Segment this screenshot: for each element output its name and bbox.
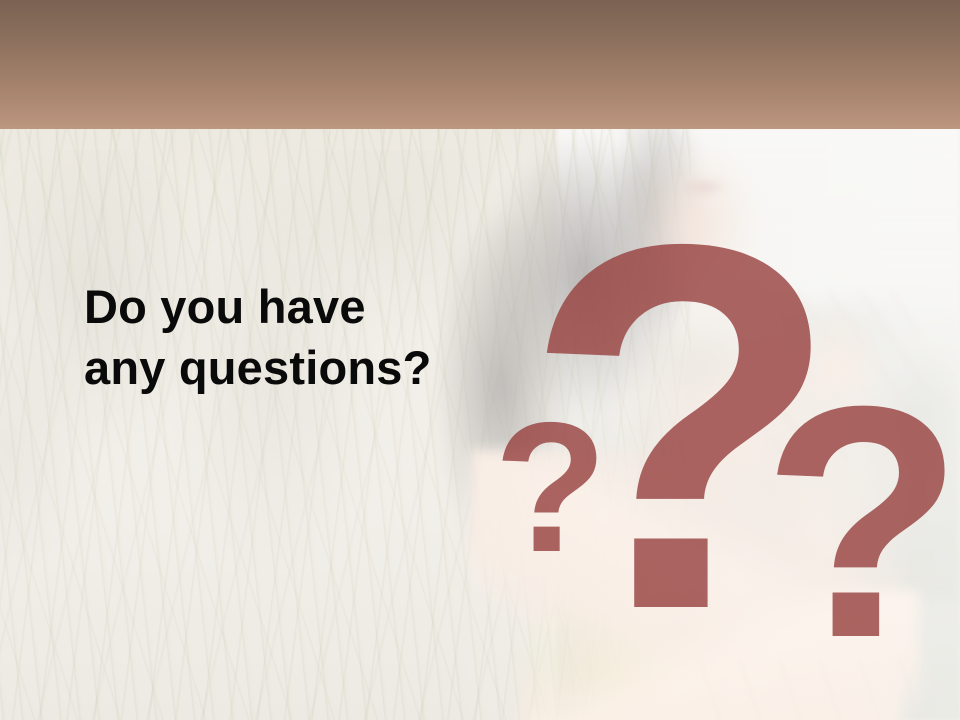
presentation-slide: ? ? ? Do you have any questions? (0, 0, 960, 720)
slide-title: Do you have any questions? (84, 276, 432, 398)
question-mark-large-icon: ? (523, 168, 841, 688)
